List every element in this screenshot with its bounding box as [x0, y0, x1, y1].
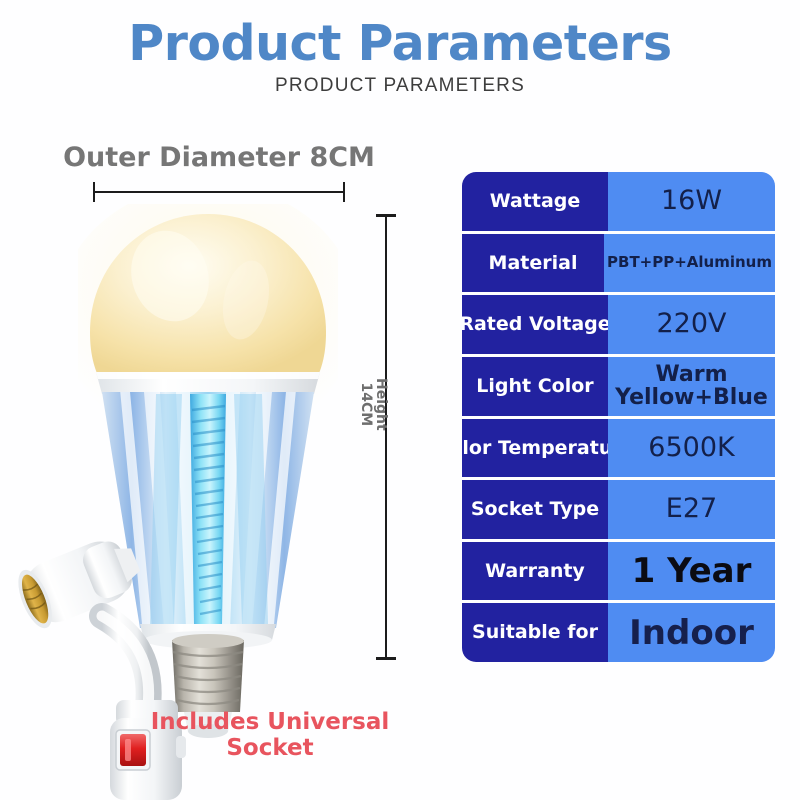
spec-value-warranty: 1 Year — [608, 542, 775, 601]
spec-key-light-color: Light Color — [462, 357, 608, 416]
height-label: Height 14CM — [359, 378, 388, 431]
spec-key-color-temperature-line1: Color — [462, 438, 491, 459]
socket-caption-line1: Includes Universal — [120, 710, 420, 736]
header: Product Parameters PRODUCT PARAMETERS — [0, 0, 800, 97]
height-label-line2: 14CM — [359, 378, 374, 431]
page-title: Product Parameters — [0, 0, 800, 69]
table-row-color-temperature: Color Temperature 6500K — [462, 419, 775, 481]
specification-table: Wattage 16W Material PBT+PP+Aluminum Rat… — [462, 172, 775, 662]
outer-diameter-label: Outer Diameter 8CM — [44, 142, 394, 173]
spec-key-wattage: Wattage — [462, 172, 608, 231]
includes-universal-socket-caption: Includes Universal Socket — [120, 710, 420, 762]
spec-value-light-color-line1: Warm — [615, 363, 768, 386]
spec-key-suitable-for: Suitable for — [462, 603, 608, 662]
page-subtitle: PRODUCT PARAMETERS — [0, 69, 800, 97]
height-line — [385, 214, 387, 660]
table-row-suitable-for: Suitable for Indoor — [462, 603, 775, 662]
product-parameters-infographic: Product Parameters PRODUCT PARAMETERS Ou… — [0, 0, 800, 800]
spec-value-wattage: 16W — [608, 172, 775, 231]
table-row-warranty: Warranty 1 Year — [462, 542, 775, 604]
height-cap-bottom — [376, 657, 396, 660]
table-row-material: Material PBT+PP+Aluminum — [462, 234, 775, 296]
spec-value-socket-type: E27 — [608, 480, 775, 539]
height-dimension-line — [376, 214, 396, 660]
spec-key-socket-type: Socket Type — [462, 480, 608, 539]
table-row-light-color: Light Color Warm Yellow+Blue — [462, 357, 775, 419]
spec-key-rated-voltage: Rated Voltage — [462, 295, 608, 354]
table-row-rated-voltage: Rated Voltage 220V — [462, 295, 775, 357]
spec-key-warranty: Warranty — [462, 542, 608, 601]
spec-key-material: Material — [462, 234, 604, 293]
spec-value-color-temperature: 6500K — [608, 419, 775, 478]
product-illustration-area: Outer Diameter 8CM Height 14CM — [0, 120, 450, 800]
diameter-dimension-line — [93, 182, 345, 202]
spec-value-light-color: Warm Yellow+Blue — [608, 357, 775, 416]
table-row-wattage: Wattage 16W — [462, 172, 775, 234]
spec-value-material: PBT+PP+Aluminum — [604, 234, 775, 293]
spec-value-light-color-line2: Yellow+Blue — [615, 386, 768, 409]
height-label-line1: Height — [373, 378, 388, 431]
diameter-line — [93, 191, 345, 193]
table-row-socket-type: Socket Type E27 — [462, 480, 775, 542]
diameter-cap-right — [343, 182, 345, 202]
spec-value-rated-voltage: 220V — [608, 295, 775, 354]
spec-key-rated-voltage-line2: Voltage — [529, 314, 611, 335]
socket-caption-line2: Socket — [120, 736, 420, 762]
spec-key-color-temperature: Color Temperature — [462, 419, 608, 478]
spec-key-rated-voltage-line1: Rated — [462, 314, 522, 335]
spec-value-suitable-for: Indoor — [608, 603, 775, 662]
